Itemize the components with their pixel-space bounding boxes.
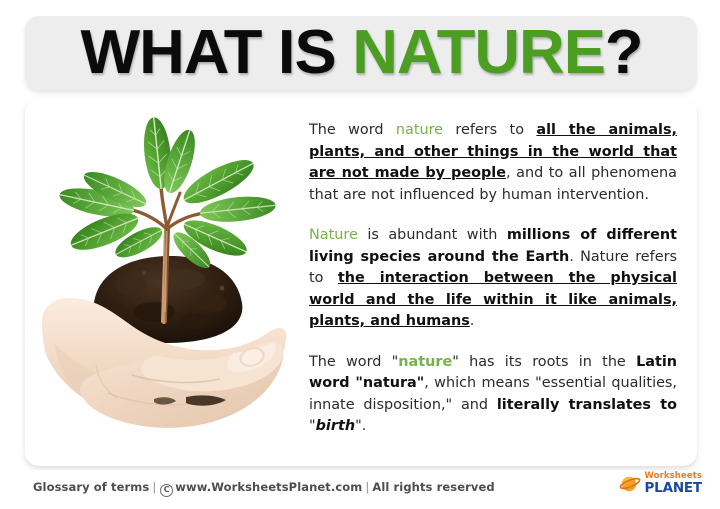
paragraph-1: The word nature refers to all the animal… bbox=[309, 120, 677, 206]
p3-s9: ". bbox=[355, 418, 366, 434]
p1-s1: The word bbox=[309, 122, 396, 138]
title-question-mark: ? bbox=[604, 18, 642, 87]
p2-keyword-nature: Nature bbox=[309, 227, 358, 243]
p2-s2: is abundant with bbox=[358, 227, 507, 243]
content-card: The word nature refers to all the animal… bbox=[25, 98, 697, 466]
p2-s6: . bbox=[470, 313, 475, 329]
p3-s1: The word " bbox=[309, 354, 398, 370]
footer-bar: Glossary of terms|Cwww.WorksheetsPlanet.… bbox=[0, 470, 720, 509]
page-title: WHAT IS NATURE? bbox=[80, 22, 642, 84]
footer-credits: Glossary of terms|Cwww.WorksheetsPlanet.… bbox=[33, 480, 495, 497]
title-part-nature: NATURE bbox=[352, 18, 605, 87]
logo-wordmark: Worksheets PLANET bbox=[644, 472, 702, 495]
worksheet-page: WHAT IS NATURE? bbox=[0, 0, 720, 509]
definition-text-column: The word nature refers to all the animal… bbox=[301, 106, 683, 458]
worksheets-planet-logo[interactable]: Worksheets PLANET bbox=[619, 472, 702, 495]
title-part-what-is: WHAT IS bbox=[80, 18, 352, 87]
footer-separator-2: | bbox=[362, 480, 372, 494]
p3-italic-birth: birth bbox=[316, 418, 355, 434]
p1-s3: refers to bbox=[443, 122, 536, 138]
planet-icon bbox=[619, 473, 641, 495]
title-banner: WHAT IS NATURE? bbox=[25, 16, 697, 90]
plant-stem bbox=[164, 227, 167, 321]
footer-website[interactable]: www.WorksheetsPlanet.com bbox=[175, 480, 362, 494]
plant-in-hands-illustration bbox=[36, 107, 298, 457]
p2-highlight: the interaction between the physical wor… bbox=[309, 270, 677, 329]
logo-word-planet: PLANET bbox=[644, 482, 702, 496]
p3-s7: " bbox=[309, 418, 316, 434]
footer-glossary-label: Glossary of terms bbox=[33, 480, 149, 494]
footer-rights: All rights reserved bbox=[372, 480, 494, 494]
paragraph-2: Nature is abundant with millions of diff… bbox=[309, 225, 677, 333]
paragraph-3: The word "nature" has its roots in the L… bbox=[309, 352, 677, 438]
plant-in-hands-image bbox=[33, 106, 301, 458]
p3-bold-translates: literally translates to bbox=[497, 397, 677, 413]
footer-separator-1: | bbox=[149, 480, 159, 494]
p1-keyword-nature: nature bbox=[396, 122, 443, 138]
p3-s3: " has its roots in the bbox=[452, 354, 636, 370]
copyright-icon: C bbox=[160, 484, 173, 497]
p3-keyword-nature: nature bbox=[398, 354, 452, 370]
